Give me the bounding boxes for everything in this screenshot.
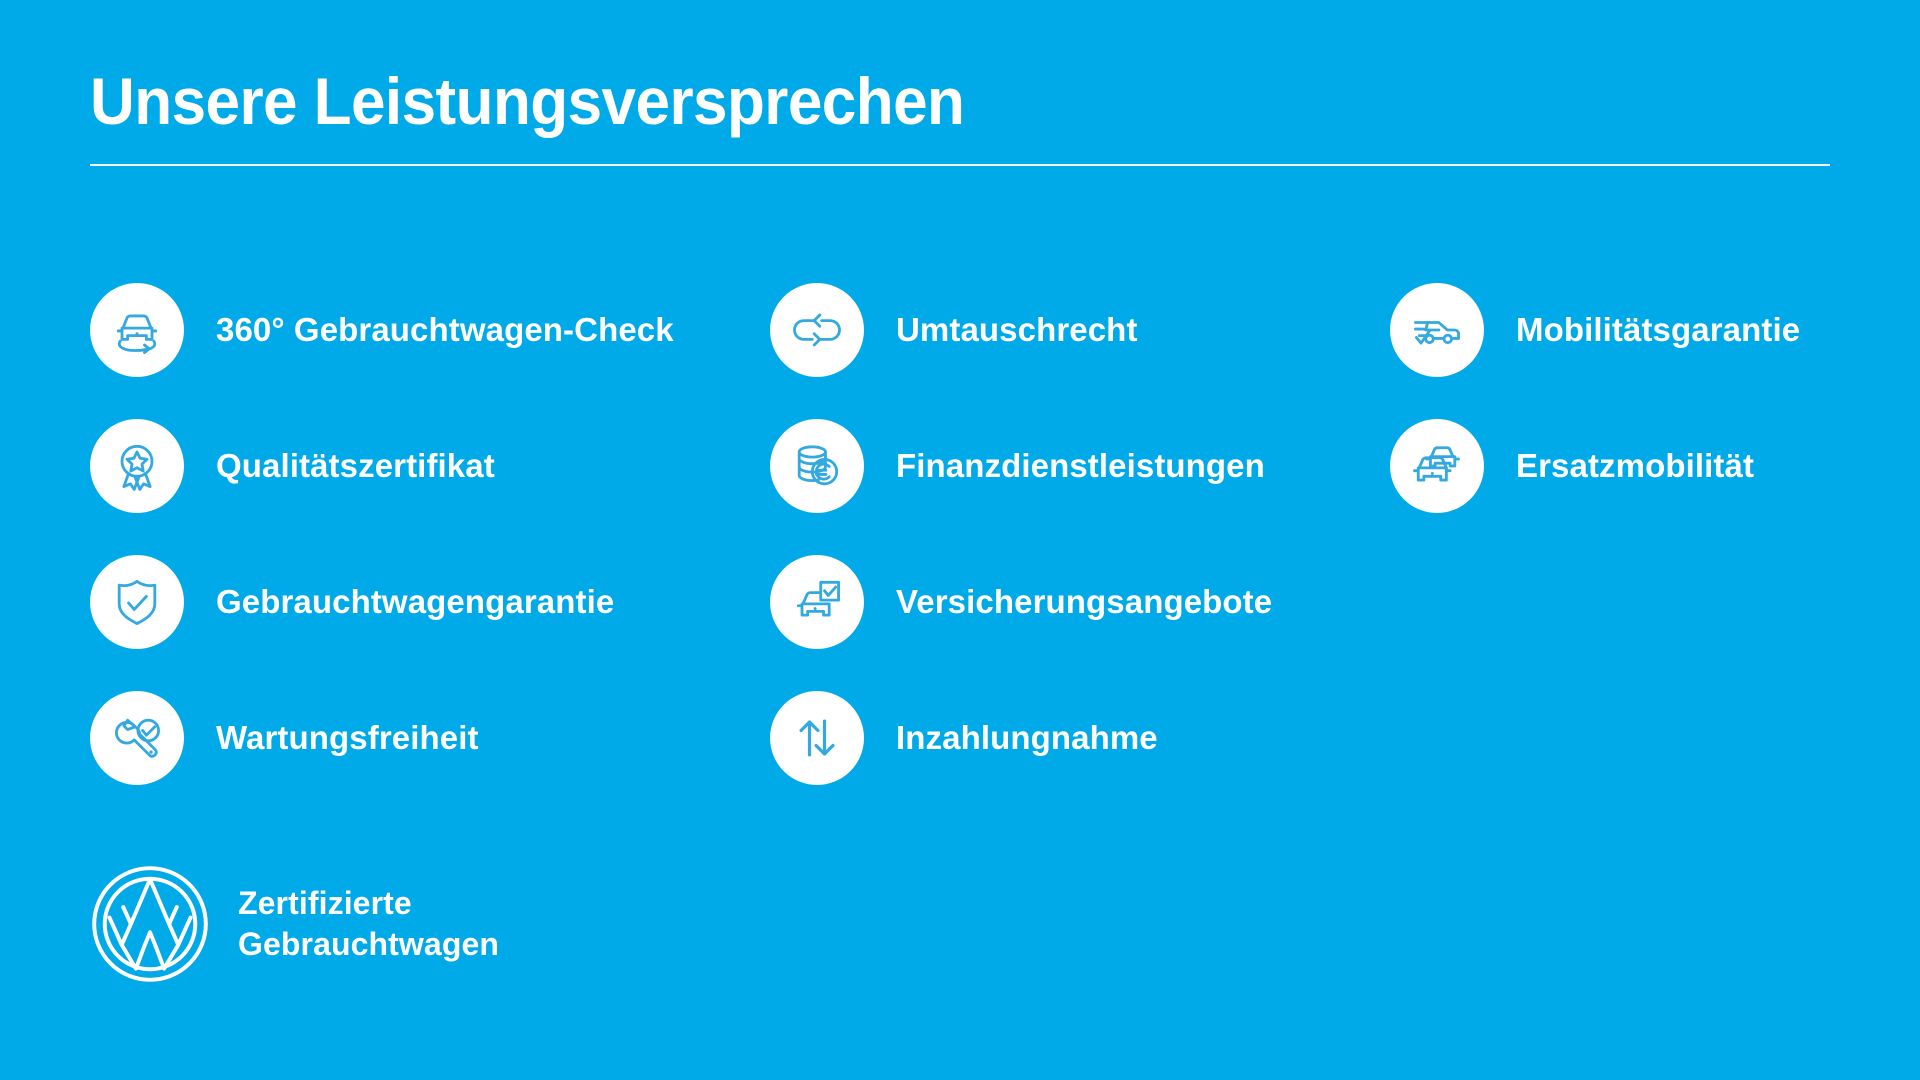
benefit-item-trade-in[interactable]: Inzahlungnahme: [770, 670, 1390, 806]
benefit-item-mobility-guarantee[interactable]: Mobilitätsgarantie: [1390, 262, 1850, 398]
benefit-label: Umtauschrecht: [896, 310, 1138, 350]
benefit-item-maintenance-free[interactable]: Wartungsfreiheit: [90, 670, 770, 806]
benefit-item-used-car-warranty[interactable]: Gebrauchtwagengarantie: [90, 534, 770, 670]
brand-text: Zertifizierte Gebrauchtwagen: [238, 883, 499, 965]
benefit-label: 360° Gebrauchtwagen-Check: [216, 310, 674, 350]
two-cars-icon: [1390, 419, 1484, 513]
benefit-label: Inzahlungnahme: [896, 718, 1158, 758]
benefit-label: Mobilitätsgarantie: [1516, 310, 1800, 350]
benefits-column-3: Mobilitätsgarantie Ersatzmobilität: [1390, 262, 1850, 534]
moving-car-check-icon: [1390, 283, 1484, 377]
benefit-item-insurance-offers[interactable]: Versicherungsangebote: [770, 534, 1390, 670]
benefit-item-replacement-mobility[interactable]: Ersatzmobilität: [1390, 398, 1850, 534]
header: Unsere Leistungsversprechen: [90, 62, 1830, 166]
coins-euro-icon: [770, 419, 864, 513]
benefit-label: Ersatzmobilität: [1516, 446, 1754, 486]
brand-text-line2: Gebrauchtwagen: [238, 924, 499, 965]
benefit-label: Wartungsfreiheit: [216, 718, 479, 758]
brand-footer: Zertifizierte Gebrauchtwagen: [88, 862, 499, 986]
benefit-label: Qualitätszertifikat: [216, 446, 495, 486]
benefit-item-quality-certificate[interactable]: Qualitätszertifikat: [90, 398, 770, 534]
car-checkbox-icon: [770, 555, 864, 649]
brand-text-line1: Zertifizierte: [238, 885, 412, 921]
benefit-item-exchange-right[interactable]: Umtauschrecht: [770, 262, 1390, 398]
title-divider: [90, 164, 1830, 166]
benefit-label: Versicherungsangebote: [896, 582, 1272, 622]
wrench-check-icon: [90, 691, 184, 785]
up-down-arrows-icon: [770, 691, 864, 785]
car-360-check-icon: [90, 283, 184, 377]
slide-root: Unsere Leistungsversprechen: [0, 0, 1920, 1080]
benefits-column-2: Umtauschrecht Finanzdienstleistungen: [770, 262, 1390, 806]
quality-award-icon: [90, 419, 184, 513]
benefit-label: Finanzdienstleistungen: [896, 446, 1265, 486]
volkswagen-logo: [88, 862, 212, 986]
shield-check-icon: [90, 555, 184, 649]
exchange-arrows-icon: [770, 283, 864, 377]
benefit-label: Gebrauchtwagengarantie: [216, 582, 614, 622]
benefits-columns: 360° Gebrauchtwagen-Check Qualitätszerti…: [90, 262, 1850, 806]
benefits-column-1: 360° Gebrauchtwagen-Check Qualitätszerti…: [90, 262, 770, 806]
page-title: Unsere Leistungsversprechen: [90, 62, 1726, 140]
benefit-item-financial-services[interactable]: Finanzdienstleistungen: [770, 398, 1390, 534]
benefit-item-360-check[interactable]: 360° Gebrauchtwagen-Check: [90, 262, 770, 398]
